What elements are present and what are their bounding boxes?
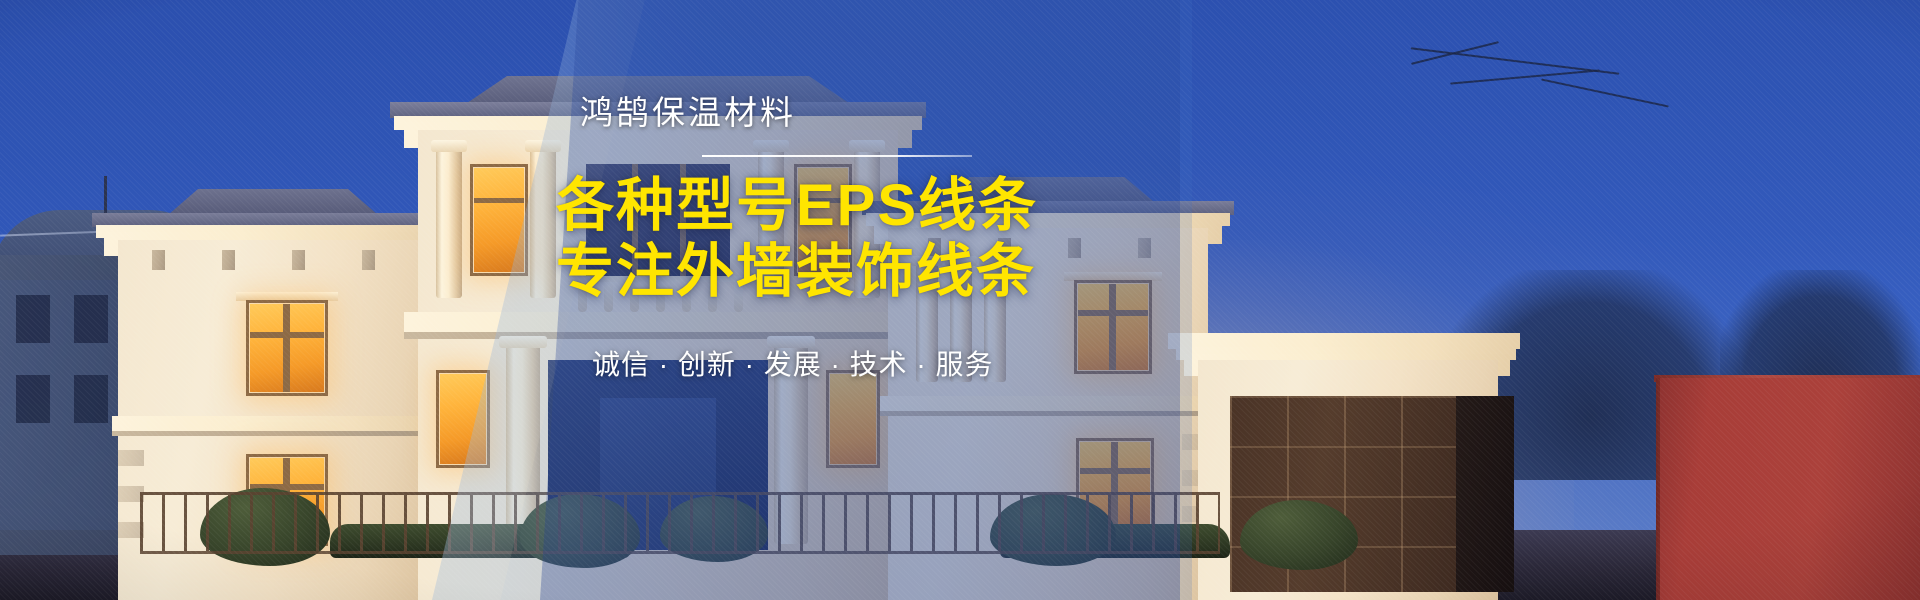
iron-fence <box>140 492 1220 554</box>
pilaster <box>530 148 556 298</box>
window-frame <box>470 164 528 276</box>
promo-banner: 鸿鹄保温材料 各种型号EPS线条 专注外墙装饰线条 诚信 · 创新 · 发展 ·… <box>0 0 1920 600</box>
tagline: 诚信 · 创新 · 发展 · 技术 · 服务 <box>556 343 1256 383</box>
garage-opening-dark <box>1456 396 1514 592</box>
string-course <box>880 396 1216 411</box>
cornice-bracket <box>362 250 375 270</box>
banner-copy: 鸿鹄保温材料 各种型号EPS线条 专注外墙装饰线条 诚信 · 创新 · 发展 ·… <box>556 96 1256 383</box>
window-frame <box>436 370 490 468</box>
string-course-shadow <box>112 431 434 436</box>
fence-bottom-rail <box>140 551 1220 554</box>
quoin-block <box>118 450 144 466</box>
headline-line-1: 各种型号EPS线条 <box>556 173 1256 239</box>
cornice-bracket <box>152 250 165 270</box>
left-wing-roof-peak <box>148 189 398 215</box>
fence-pickets <box>140 495 1220 551</box>
distant-window <box>74 295 108 343</box>
red-structure <box>1660 378 1920 600</box>
string-course-shadow <box>880 411 1216 416</box>
window-frame <box>246 300 328 396</box>
window-frame <box>826 370 880 468</box>
divider-rule <box>702 155 972 157</box>
distant-window <box>16 295 50 343</box>
string-course <box>112 416 434 431</box>
pilaster-capital <box>431 140 467 152</box>
portico-column-capital <box>499 336 547 348</box>
pilaster <box>436 148 462 298</box>
cornice-bracket <box>222 250 235 270</box>
brand-name: 鸿鹄保温材料 <box>556 96 1256 129</box>
distant-window <box>16 375 50 423</box>
headline-line-2: 专注外墙装饰线条 <box>556 239 1256 305</box>
distant-window <box>74 375 108 423</box>
cornice-bracket <box>292 250 305 270</box>
